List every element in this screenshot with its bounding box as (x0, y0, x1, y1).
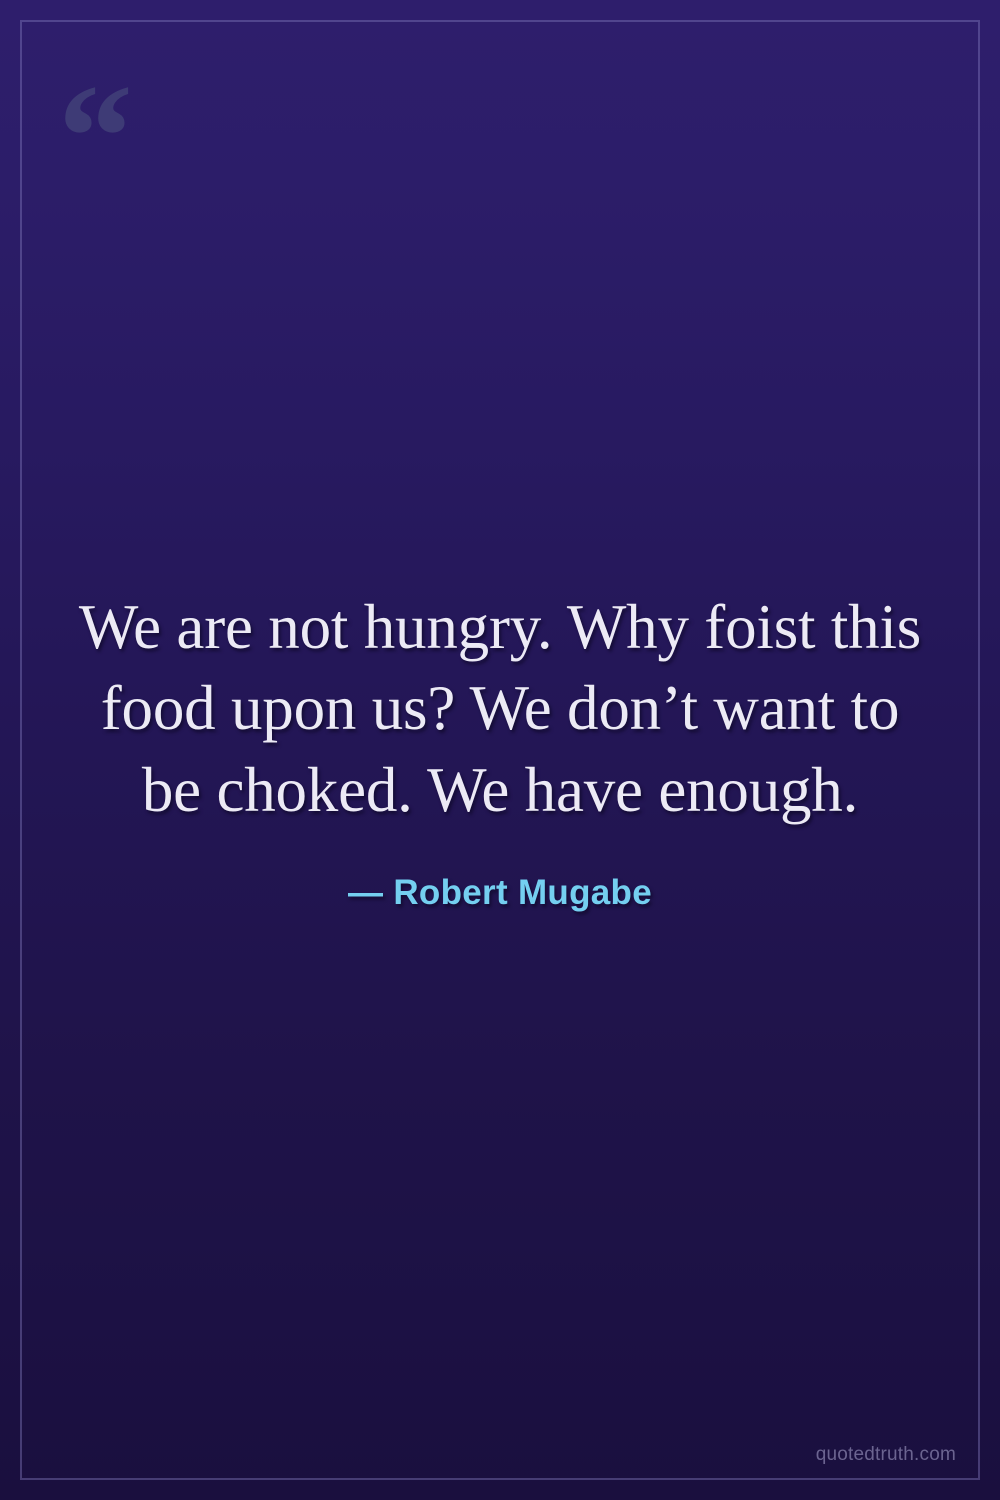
attribution-dash: — (348, 873, 383, 912)
attribution-author-name: Robert Mugabe (393, 873, 652, 912)
quote-content-block: We are not hungry. Why foist this food u… (0, 0, 1000, 1500)
quote-card: “ We are not hungry. Why foist this food… (0, 0, 1000, 1500)
quote-attribution: —Robert Mugabe (348, 873, 652, 913)
quote-text: We are not hungry. Why foist this food u… (70, 587, 930, 831)
site-watermark: quotedtruth.com (816, 1444, 956, 1466)
